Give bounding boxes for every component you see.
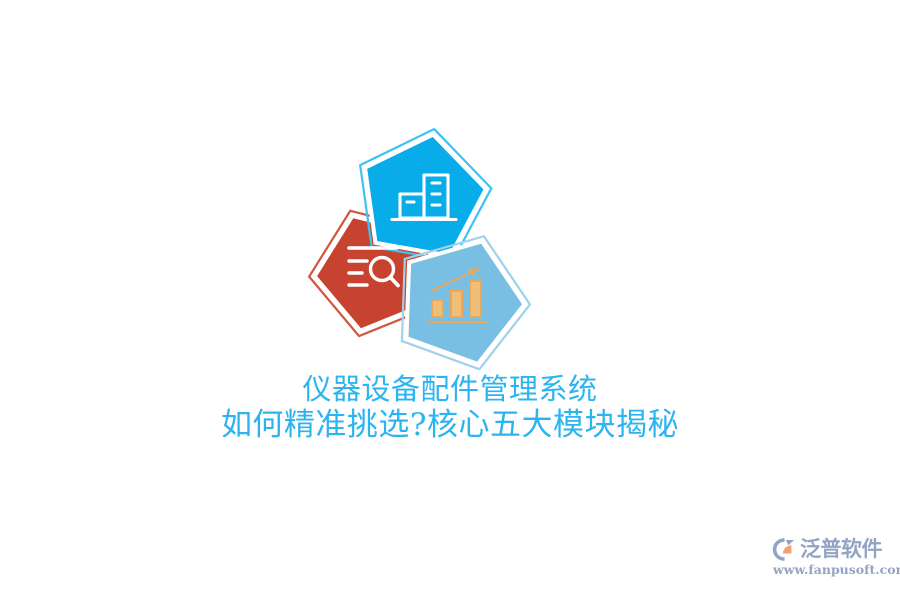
headline-line-1: 仪器设备配件管理系统 [0,372,900,407]
watermark: 泛普软件 www.fanpusoft.com [772,536,894,584]
headline: 仪器设备配件管理系统 如何精准挑选?核心五大模块揭秘 [0,372,900,445]
watermark-url: www.fanpusoft.com [772,562,900,577]
logo-graphic [280,120,540,370]
page-canvas: 仪器设备配件管理系统 如何精准挑选?核心五大模块揭秘 泛普软件 www.fanp… [0,0,900,600]
watermark-top-row: 泛普软件 [772,536,882,563]
headline-line-2: 如何精准挑选?核心五大模块揭秘 [0,407,900,445]
watermark-brand-name: 泛普软件 [800,537,882,562]
fanpu-logo-icon [772,537,798,562]
